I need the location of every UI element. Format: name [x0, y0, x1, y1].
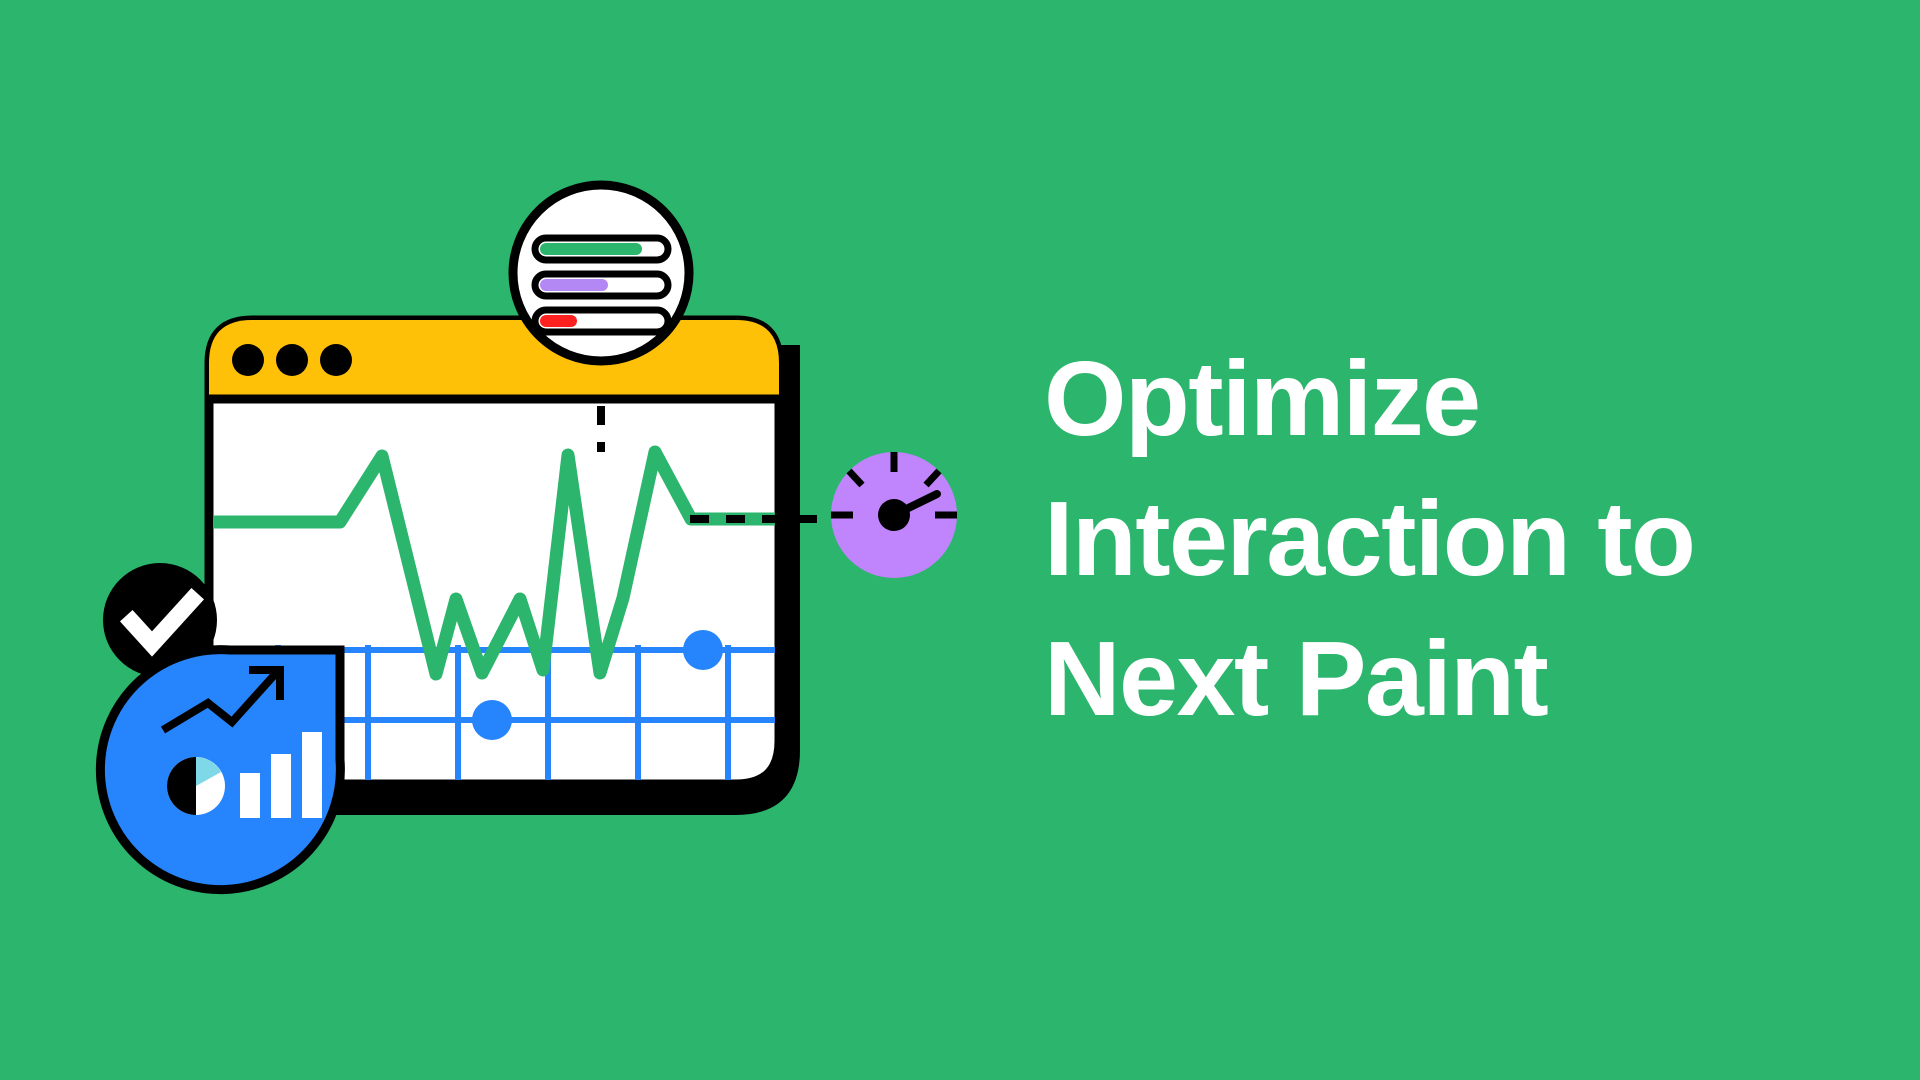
- headline-line-2: Interaction to: [1044, 470, 1884, 610]
- grid-data-point-1[interactable]: [472, 700, 512, 740]
- page-root: Optimize Interaction to Next Paint: [0, 0, 1920, 1080]
- progress-bar-green-fill: [540, 243, 642, 255]
- speed-gauge-badge[interactable]: [831, 452, 957, 578]
- page-title: Optimize Interaction to Next Paint: [1044, 330, 1884, 750]
- grid-data-point-2[interactable]: [683, 630, 723, 670]
- badge-bar-1: [240, 773, 260, 818]
- window-dot-1[interactable]: [232, 344, 264, 376]
- badge-bar-3: [302, 732, 322, 818]
- progress-bar-red[interactable]: [535, 310, 668, 332]
- badge-bar-2: [271, 754, 291, 818]
- headline-line-3: Next Paint: [1044, 610, 1884, 750]
- progress-bar-red-fill: [540, 315, 577, 327]
- progress-bar-purple[interactable]: [535, 274, 668, 296]
- analytics-teardrop-badge[interactable]: [100, 650, 340, 890]
- pie-chart-icon: [167, 757, 225, 815]
- metrics-progress-badge[interactable]: [513, 185, 689, 361]
- window-dot-2[interactable]: [276, 344, 308, 376]
- progress-bar-green[interactable]: [535, 238, 668, 260]
- window-dot-3[interactable]: [320, 344, 352, 376]
- progress-bar-purple-fill: [540, 279, 608, 291]
- gauge-hub: [878, 499, 910, 531]
- headline-line-1: Optimize: [1044, 330, 1884, 470]
